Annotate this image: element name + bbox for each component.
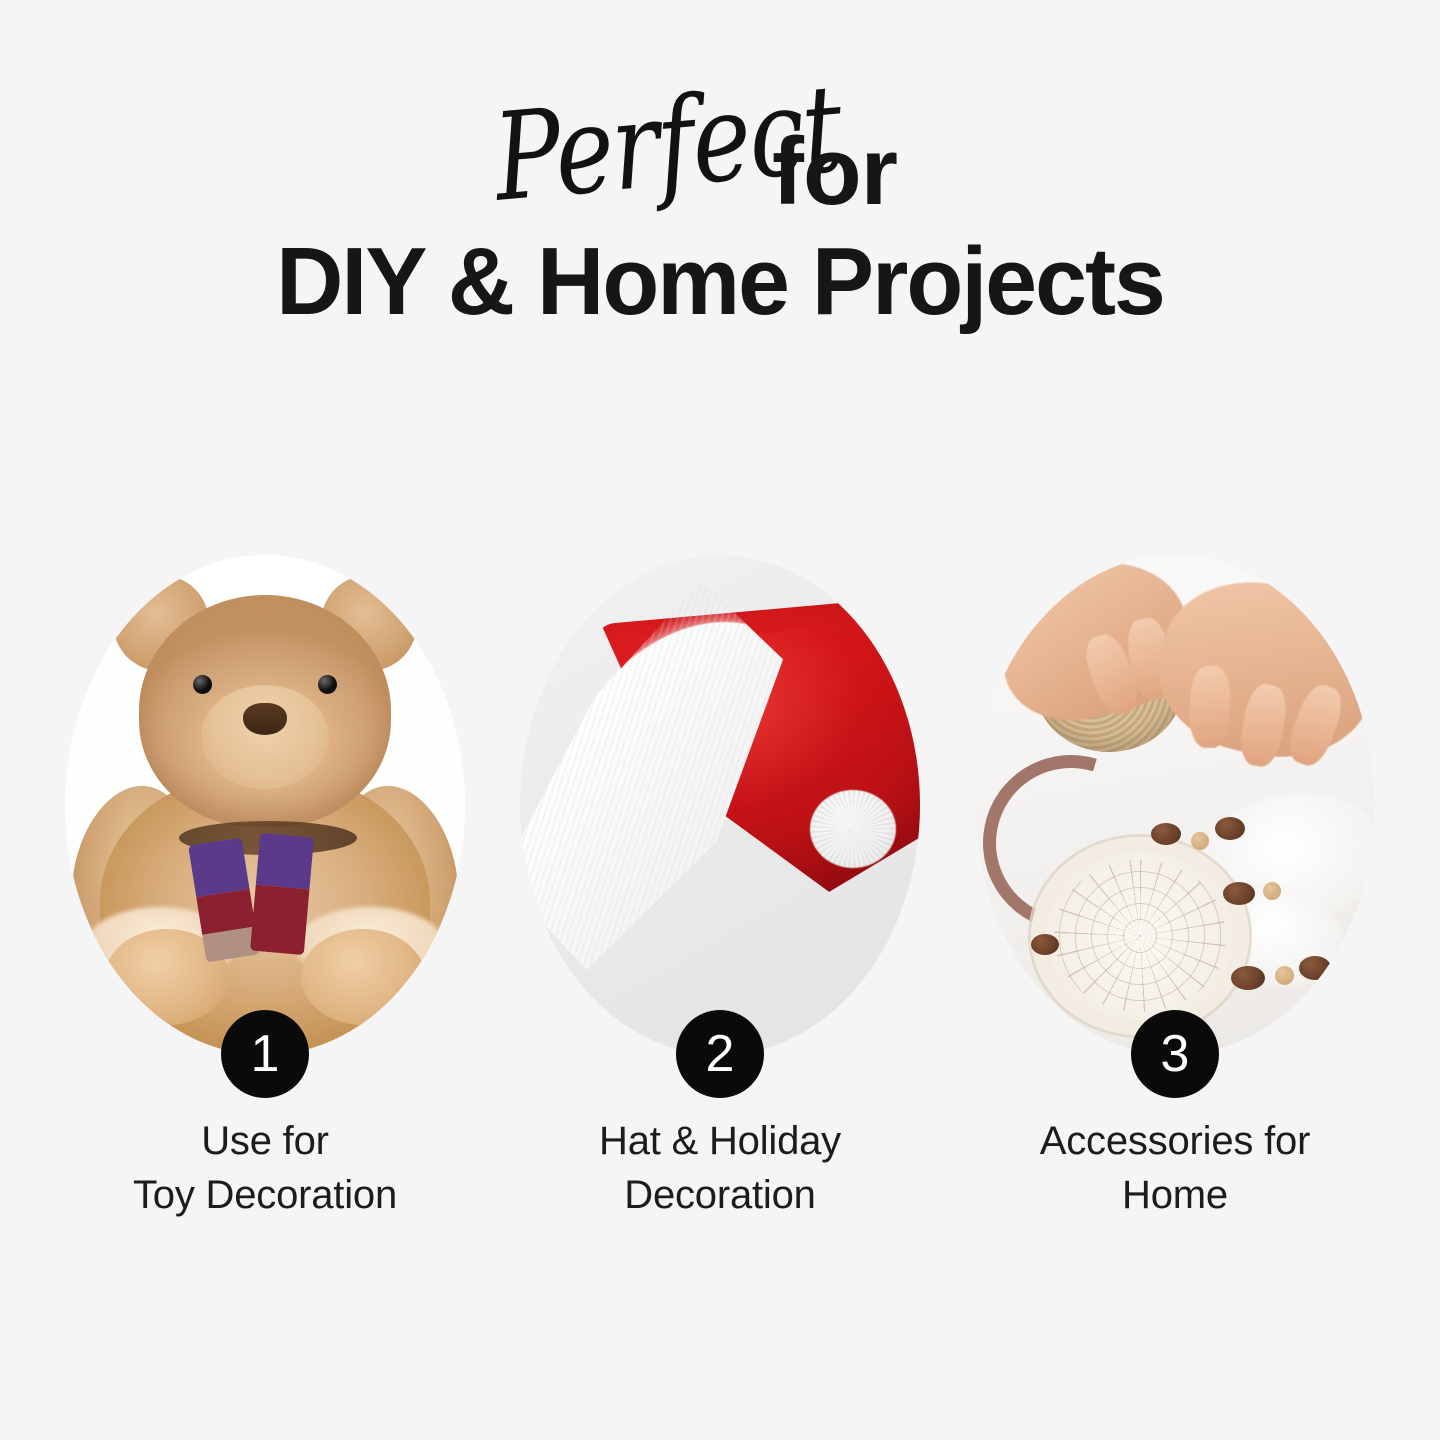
step-badge-1: 1 <box>221 1010 309 1098</box>
finger <box>1188 665 1231 748</box>
headline-block: Perfect for DIY & Home Projects <box>0 0 1440 400</box>
santa-hat-pompom <box>810 790 896 868</box>
feature-image-hat-holiday <box>520 555 920 1055</box>
bear-nose <box>243 703 287 735</box>
wooden-bead <box>1151 823 1181 845</box>
caption-line-2: Home <box>965 1169 1385 1223</box>
feature-caption-1: Use for Toy Decoration <box>55 1115 475 1222</box>
step-badge-2: 2 <box>676 1010 764 1098</box>
caption-line-1: Use for <box>55 1115 475 1169</box>
page-title: DIY & Home Projects <box>22 234 1419 330</box>
caption-line-2: Decoration <box>510 1169 930 1223</box>
caption-line-1: Accessories for <box>965 1115 1385 1169</box>
teddy-bear-photo <box>65 555 465 1055</box>
feature-card-hat-holiday-decoration: 2 Hat & Holiday Decoration <box>510 550 930 1250</box>
caption-line-1: Hat & Holiday <box>510 1115 930 1169</box>
feature-image-toy-decoration <box>65 555 465 1055</box>
finger <box>1236 681 1290 769</box>
wooden-bead-light <box>1263 882 1281 900</box>
bear-eye-right <box>318 675 337 694</box>
caption-line-2: Toy Decoration <box>55 1169 475 1223</box>
headline-for: for <box>772 124 897 220</box>
hand-right <box>1145 565 1375 776</box>
feature-row: 1 Use for Toy Decoration 2 Hat & Holiday… <box>0 550 1440 1250</box>
scarf-band-purple <box>256 833 314 889</box>
wooden-bead <box>1031 934 1059 955</box>
wooden-bead <box>1299 956 1331 980</box>
dreamcatcher <box>1031 837 1249 1035</box>
bear-scarf-tail-right <box>250 833 314 955</box>
santa-hat-pompom-texture <box>810 790 896 868</box>
wooden-bead <box>1231 966 1265 990</box>
feature-image-accessories-home <box>975 555 1375 1055</box>
feature-card-toy-decoration: 1 Use for Toy Decoration <box>55 550 475 1250</box>
wooden-bead-light <box>1275 966 1294 985</box>
dreamcatcher-web <box>1054 860 1226 1012</box>
bear-scarf <box>193 835 343 955</box>
finger <box>1283 680 1349 771</box>
wooden-bead <box>1223 882 1255 905</box>
dreamcatcher-craft-photo <box>975 555 1375 1055</box>
wooden-bead <box>1215 817 1245 840</box>
feature-caption-3: Accessories for Home <box>965 1115 1385 1222</box>
bear-eye-left <box>193 675 212 694</box>
step-badge-3: 3 <box>1131 1010 1219 1098</box>
feature-caption-2: Hat & Holiday Decoration <box>510 1115 930 1222</box>
wooden-bead-light <box>1191 832 1209 850</box>
santa-hat-photo <box>520 555 920 1055</box>
feature-card-accessories-for-home: 3 Accessories for Home <box>965 550 1385 1250</box>
bear-scarf-tail-left <box>188 838 260 963</box>
bear-muzzle <box>201 685 329 789</box>
scarf-band-purple <box>188 838 249 898</box>
scarf-band-maroon <box>250 885 310 956</box>
